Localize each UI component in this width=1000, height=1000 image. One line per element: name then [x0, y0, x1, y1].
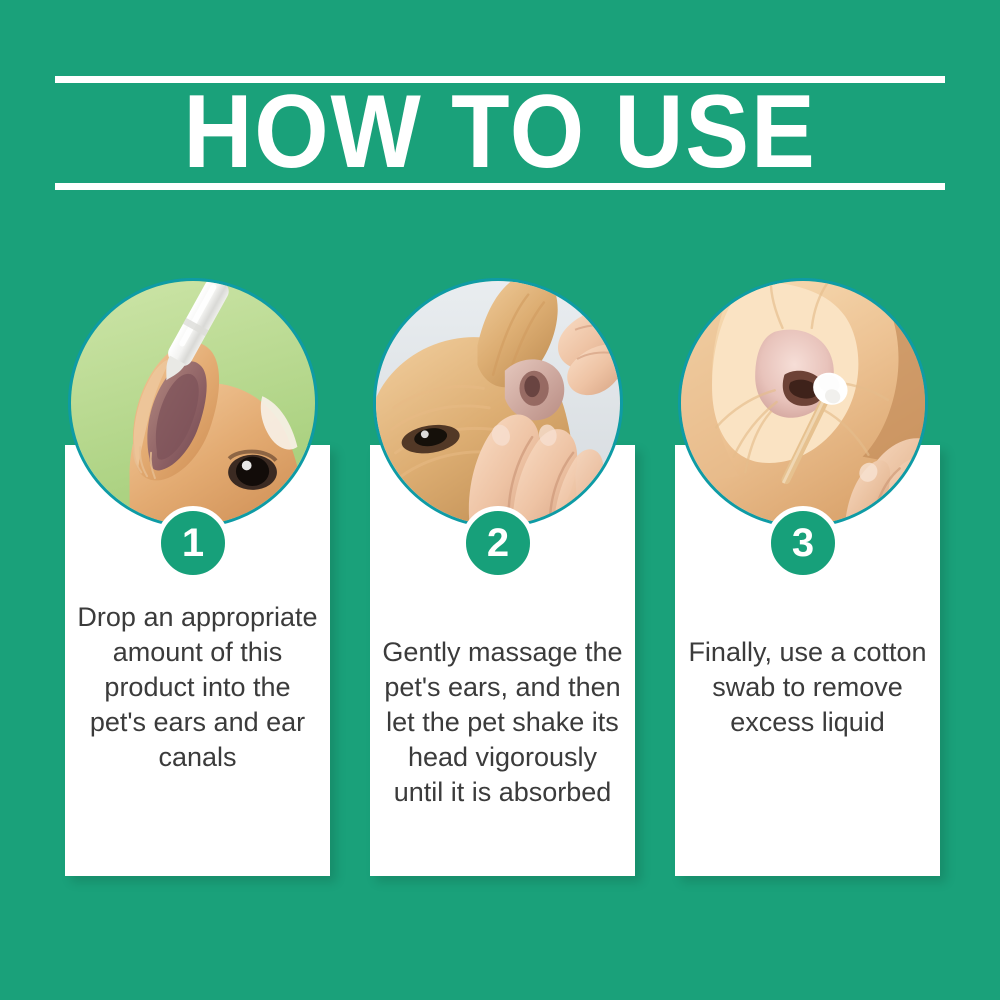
- step-description-1: Drop an appropriate amount of this produ…: [75, 600, 320, 775]
- page-title: HOW TO USE: [40, 80, 960, 184]
- step-badge-1: 1: [156, 506, 230, 580]
- header-rule-bottom: [55, 183, 945, 190]
- step-badge-3: 3: [766, 506, 840, 580]
- step-badge-2: 2: [461, 506, 535, 580]
- header: HOW TO USE: [0, 60, 1000, 205]
- dog-ear-dropper-photo: [68, 278, 318, 528]
- step-description-3: Finally, use a cotton swab to remove exc…: [685, 635, 930, 740]
- infographic-canvas: HOW TO USE Drop an appropriate amount of…: [0, 0, 1000, 1000]
- cotton-swab-dog-ear-photo: [678, 278, 928, 528]
- step-description-2: Gently massage the pet's ears, and then …: [380, 635, 625, 810]
- hands-massaging-dog-ear-photo: [373, 278, 623, 528]
